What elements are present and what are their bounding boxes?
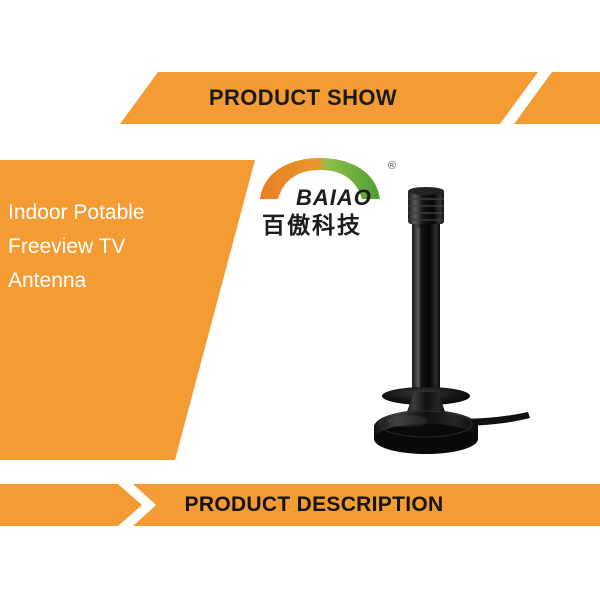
product-photo-antenna: [370, 180, 560, 460]
antenna-tube: [412, 224, 440, 396]
product-show-image: PRODUCT SHOW Indoor Potable Freeview TV …: [0, 0, 600, 600]
bottom-banner-title: PRODUCT DESCRIPTION: [0, 484, 600, 526]
logo-chinese-text: 百傲科技: [262, 206, 362, 240]
registered-trademark-icon: ®: [388, 160, 396, 172]
top-banner-title: PRODUCT SHOW: [0, 72, 600, 124]
product-title-line-3: Antenna: [8, 264, 238, 298]
antenna-base: [374, 410, 478, 454]
antenna-top-cap: [408, 187, 444, 224]
product-title-line-1: Indoor Potable: [8, 196, 238, 230]
product-title-line-2: Freeview TV: [8, 230, 238, 264]
product-title-text: Indoor Potable Freeview TV Antenna: [8, 196, 238, 298]
